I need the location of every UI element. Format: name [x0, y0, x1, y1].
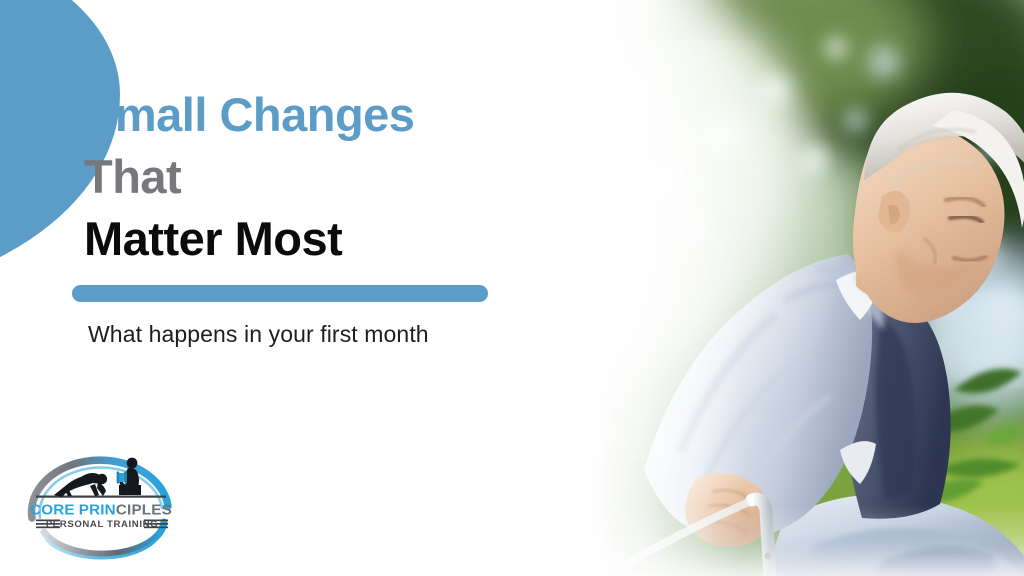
photo-artwork	[484, 0, 1024, 576]
subtitle: What happens in your first month	[88, 312, 448, 357]
logo-tagline: PERSONAL TRAINING	[46, 519, 158, 530]
logo[interactable]: COREPRINCIPLES PERSONAL TRAINING	[18, 444, 184, 566]
headline-line-2: That	[84, 146, 514, 208]
logo-brand-name: COREPRINCIPLES	[30, 502, 172, 519]
headline-line-1: Small Changes	[84, 84, 514, 146]
hero-photo	[484, 0, 1024, 576]
divider-bar	[72, 285, 488, 302]
text-block: Small Changes That Matter Most	[84, 84, 514, 270]
page-title: Small Changes That Matter Most	[84, 84, 514, 270]
headline-line-3: Matter Most	[84, 208, 514, 270]
promo-slide: Small Changes That Matter Most What happ…	[0, 0, 1024, 576]
